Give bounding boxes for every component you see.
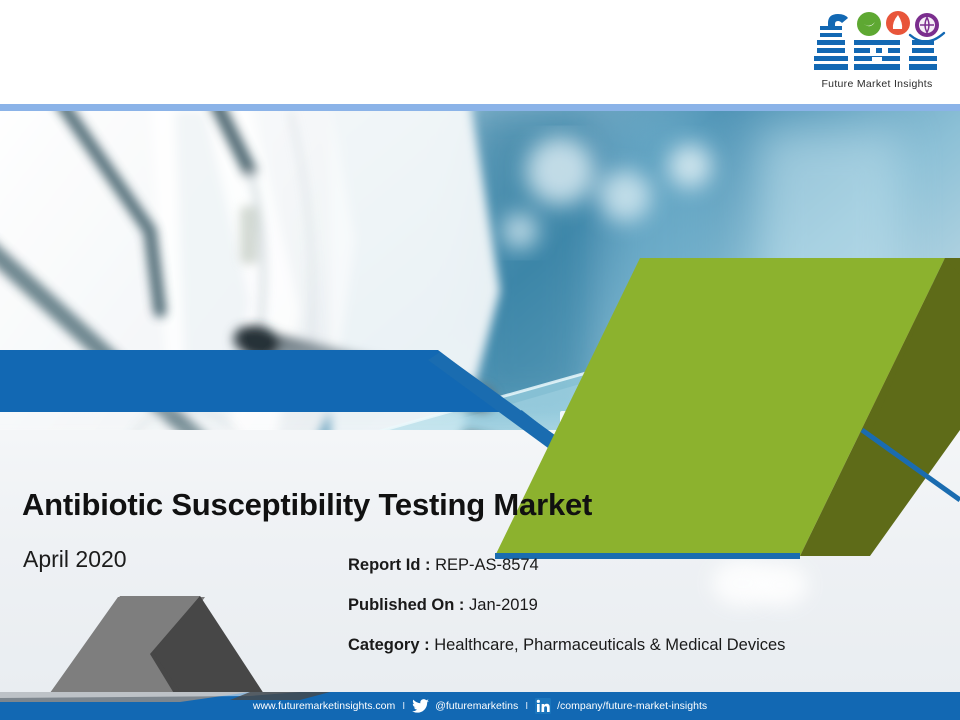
- report-cover-page: Future Market Insights: [0, 0, 960, 720]
- footer-twitter-handle[interactable]: @futuremarketins: [435, 700, 518, 712]
- footer-separator-1: I: [401, 700, 406, 712]
- detail-row-report-id: Report Id : REP-AS-8574: [348, 556, 785, 575]
- detail-row-published-on: Published On : Jan-2019: [348, 596, 785, 615]
- highlight-blob-c: [604, 440, 694, 480]
- fmi-logo[interactable]: Future Market Insights: [802, 4, 952, 100]
- logo-circle-orange: [886, 11, 910, 35]
- logo-wordmark: Future Market Insights: [802, 78, 952, 90]
- detail-value: REP-AS-8574: [435, 556, 539, 574]
- detail-value: Jan-2019: [469, 596, 538, 614]
- logo-circle-green: [857, 12, 881, 36]
- logo-letter-i: [909, 40, 937, 70]
- detail-row-category: Category : Healthcare, Pharmaceuticals &…: [348, 636, 785, 655]
- detail-label: Category :: [348, 636, 430, 654]
- footer-links: www.futuremarketinsights.com I @futurema…: [0, 692, 960, 720]
- footer-separator-2: I: [524, 700, 529, 712]
- detail-label: Report Id :: [348, 556, 431, 574]
- linkedin-in-icon[interactable]: [535, 698, 551, 714]
- footer-bar: www.futuremarketinsights.com I @futurema…: [0, 692, 960, 720]
- logo-letter-f: [814, 14, 848, 70]
- footer-linkedin-url[interactable]: /company/future-market-insights: [557, 700, 707, 712]
- report-details: Report Id : REP-AS-8574 Published On : J…: [348, 556, 785, 676]
- twitter-bird-icon[interactable]: [412, 699, 429, 713]
- footer-website[interactable]: www.futuremarketinsights.com: [253, 700, 395, 712]
- logo-circle-purple: [915, 13, 939, 37]
- detail-label: Published On :: [348, 596, 464, 614]
- detail-value: Healthcare, Pharmaceuticals & Medical De…: [434, 636, 785, 654]
- cover-date: April 2020: [23, 546, 127, 573]
- header-divider-rule: [0, 104, 960, 111]
- logo-letter-m: [854, 40, 900, 70]
- page-title: Antibiotic Susceptibility Testing Market: [22, 487, 592, 523]
